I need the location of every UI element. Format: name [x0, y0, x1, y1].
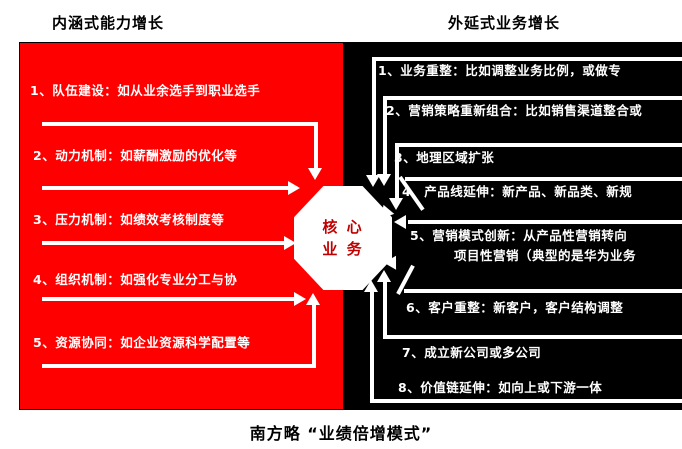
- right-item-7: 7、成立新公司或多公司: [402, 345, 541, 360]
- right-connector-1-horizontal: [372, 57, 682, 61]
- diagram-canvas: 内涵式能力增长 外延式业务增长 1、队伍建设：如从业余选手到职业选手 2、动力机…: [0, 0, 682, 449]
- right-connector-5-horizontal: [408, 220, 682, 224]
- left-arrowhead-1: [308, 168, 322, 180]
- right-arrowhead-5: [394, 215, 406, 229]
- left-connector-5-vertical: [312, 304, 316, 368]
- left-connector-5-horizontal: [42, 364, 316, 368]
- left-connector-1-vertical: [314, 122, 318, 170]
- left-connector-2-horizontal: [42, 186, 290, 190]
- left-arrowhead-5: [306, 293, 320, 305]
- header-title-right: 外延式业务增长: [448, 12, 560, 33]
- right-connector-2-horizontal: [383, 96, 682, 100]
- right-item-4: 4、产品线延伸：新产品、新品类、新规: [402, 184, 632, 199]
- left-item-2: 2、动力机制：如薪酬激励的优化等: [33, 148, 237, 163]
- right-item-5-line2: 项目性营销（典型的是华为业务: [410, 248, 636, 263]
- right-item-8: 8、价值链延伸：如向上或下游一体: [398, 380, 602, 395]
- left-connector-4-horizontal: [42, 297, 296, 301]
- right-connector-3-horizontal: [395, 143, 682, 147]
- right-item-3: 3、地理区域扩张: [394, 150, 494, 165]
- core-business-line-1: 核 心: [322, 216, 363, 238]
- right-connector-8-vertical: [370, 290, 374, 403]
- right-item-6: 6、客户重整：新客户，客户结构调整: [406, 300, 623, 315]
- right-connector-3-vertical: [395, 143, 399, 200]
- right-connector-7-vertical: [383, 280, 387, 339]
- right-connector-1-vertical: [372, 57, 376, 177]
- diagram-caption: 南方略 “业绩倍增模式”: [0, 420, 682, 444]
- header-title-left: 内涵式能力增长: [52, 12, 164, 33]
- right-item-2: 2、营销策略重新组合：比如销售渠道整合或: [386, 103, 642, 118]
- left-item-5: 5、资源协同：如企业资源科学配置等: [33, 335, 250, 350]
- left-item-1: 1、队伍建设：如从业余选手到职业选手: [30, 83, 260, 98]
- right-connector-2-vertical: [383, 96, 387, 176]
- right-arrowhead-3: [389, 198, 403, 210]
- right-item-5: 5、营销模式创新：从产品性营销转向: [410, 228, 627, 243]
- left-arrowhead-2: [288, 181, 300, 195]
- core-business-node: 核 心 业 务: [294, 186, 392, 290]
- right-connector-8-horizontal: [370, 399, 682, 403]
- left-connector-1-horizontal: [42, 122, 318, 126]
- left-item-4: 4、组织机制：如强化专业分工与协: [33, 272, 237, 287]
- left-connector-3-horizontal: [42, 241, 286, 245]
- right-item-1: 1、业务重整：比如调整业务比例，或做专: [378, 63, 621, 78]
- core-business-line-2: 业 务: [322, 238, 363, 260]
- right-connector-7-horizontal: [387, 335, 682, 339]
- right-arrowhead-2: [377, 174, 391, 186]
- left-item-3: 3、压力机制：如绩效考核制度等: [33, 212, 224, 227]
- right-connector-6-horizontal: [404, 289, 682, 293]
- right-connector-4-horizontal: [405, 177, 682, 181]
- left-arrowhead-4: [294, 292, 306, 306]
